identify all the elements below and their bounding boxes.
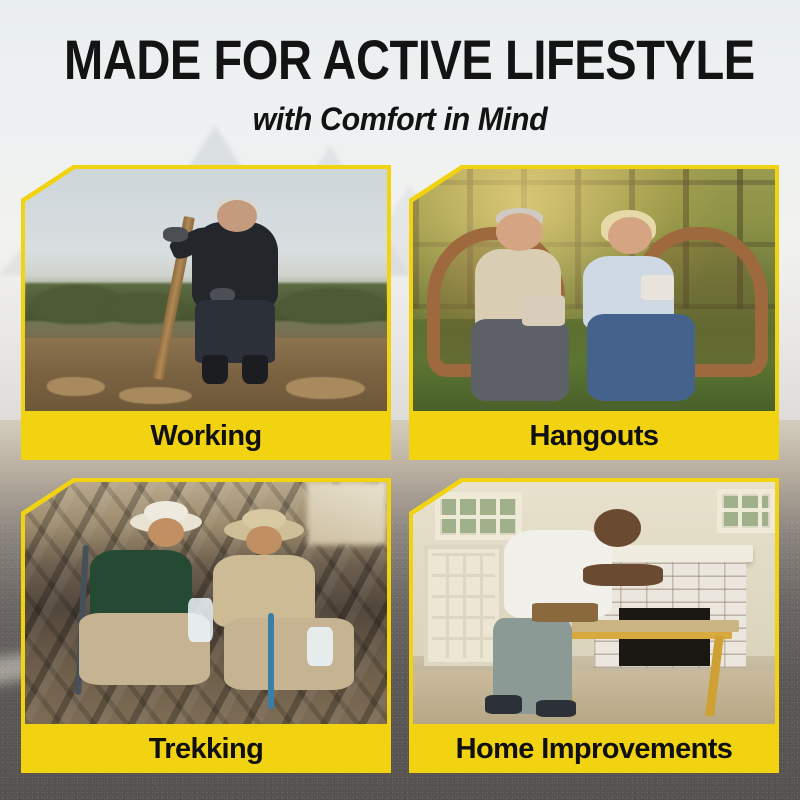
- card-label-bar: Hangouts: [409, 413, 779, 460]
- card-label-bar: Trekking: [21, 726, 391, 773]
- card-home-improvements[interactable]: Home Improvements: [409, 478, 779, 773]
- card-photo: [413, 482, 775, 724]
- card-label: Trekking: [149, 733, 263, 766]
- card-trekking[interactable]: Trekking: [21, 478, 391, 773]
- card-label: Home Improvements: [456, 733, 733, 766]
- card-photo: [413, 169, 775, 411]
- card-photo: [25, 482, 387, 724]
- card-label-bar: Working: [21, 413, 391, 460]
- poster-subheadline: with Comfort in Mind: [20, 100, 780, 138]
- card-photo: [25, 169, 387, 411]
- card-hangouts[interactable]: Hangouts: [409, 165, 779, 460]
- card-label-bar: Home Improvements: [409, 726, 779, 773]
- card-label: Hangouts: [530, 420, 659, 453]
- poster-headline: MADE FOR ACTIVE LIFESTYLE: [64, 30, 736, 90]
- poster-canvas: MADE FOR ACTIVE LIFESTYLE with Comfort i…: [0, 0, 800, 800]
- card-label: Working: [150, 420, 261, 453]
- card-working[interactable]: Working: [21, 165, 391, 460]
